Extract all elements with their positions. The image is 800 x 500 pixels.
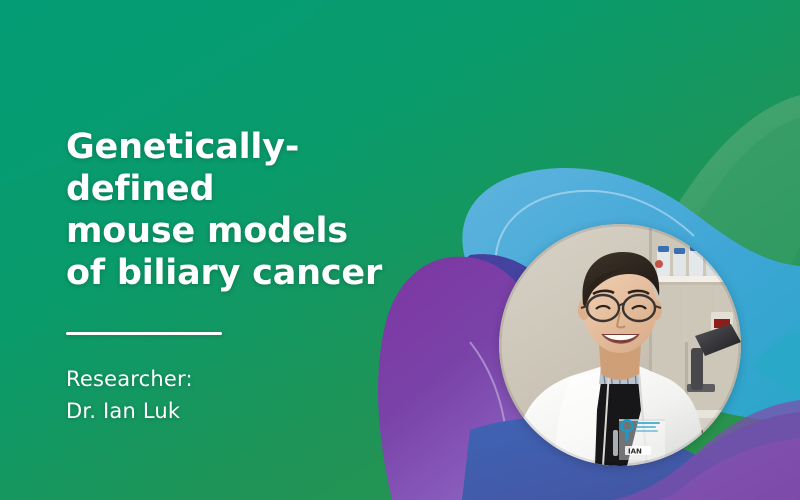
presentation-card: Genetically-defined mouse models of bili… [0, 0, 800, 500]
right-cyan-sliver [752, 330, 800, 398]
researcher-photo: IAN [499, 224, 741, 466]
page-title: Genetically-defined mouse models of bili… [66, 126, 446, 294]
researcher-label: Researcher: [66, 363, 446, 395]
researcher-block: Researcher: Dr. Ian Luk [66, 363, 446, 427]
badge-text: IAN [628, 448, 642, 456]
title-divider [66, 332, 222, 335]
text-content-block: Genetically-defined mouse models of bili… [66, 126, 446, 427]
researcher-name: Dr. Ian Luk [66, 395, 446, 427]
photo-scene: IAN [499, 224, 741, 466]
reagent-bottles [655, 245, 738, 276]
